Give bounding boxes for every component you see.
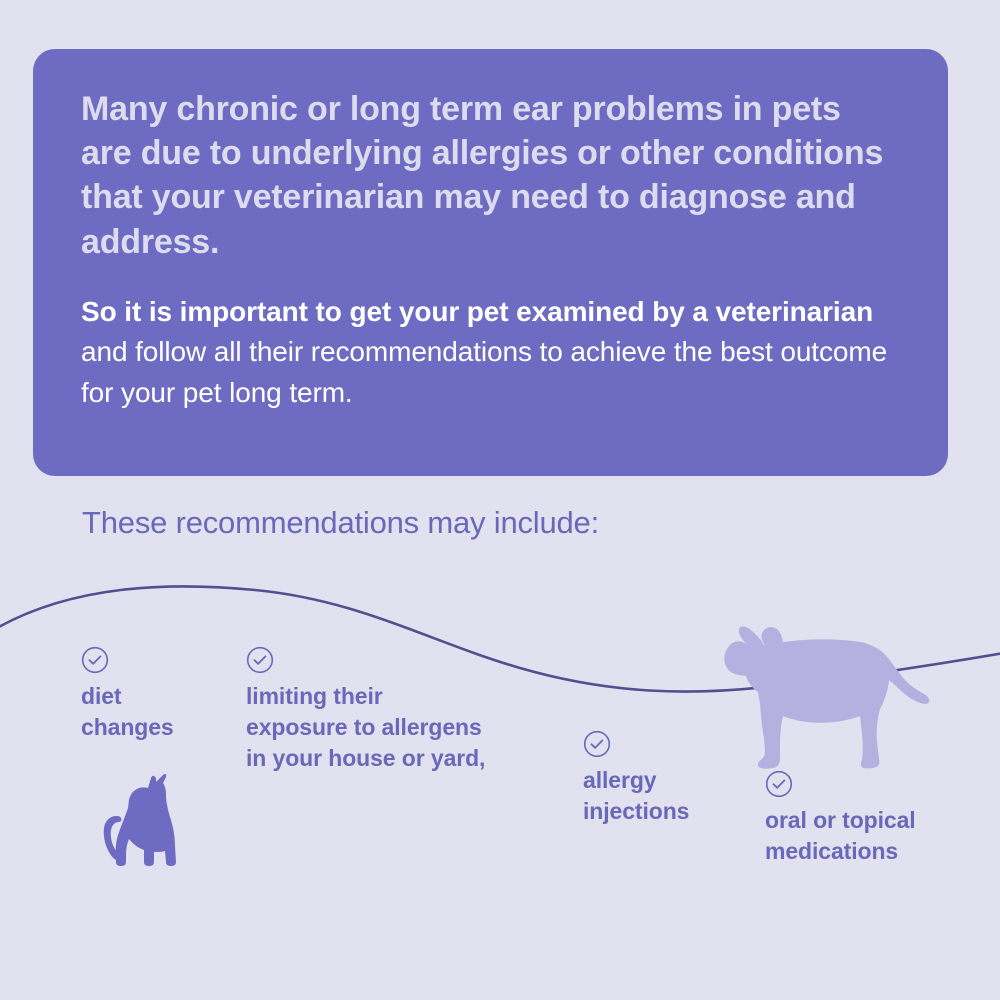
card-subtext: So it is important to get your pet exami… [81, 264, 900, 414]
check-circle-icon [583, 730, 611, 758]
check-circle-icon [81, 646, 109, 674]
card-subtext-emphasis: So it is important to get your pet exami… [81, 296, 873, 327]
recommendation-item-allergy-injections[interactable]: allergy injections [583, 730, 689, 827]
card-subtext-rest: and follow all their recommendations to … [81, 336, 887, 408]
check-circle-icon [246, 646, 274, 674]
dog-silhouette-icon [712, 604, 932, 776]
recommendation-label: oral or topical medications [765, 805, 916, 867]
card-headline: Many chronic or long term ear problems i… [81, 87, 900, 264]
cat-silhouette-icon [96, 772, 188, 868]
info-card: Many chronic or long term ear problems i… [33, 49, 948, 476]
check-circle-icon [765, 770, 793, 798]
recommendation-label: allergy injections [583, 765, 689, 827]
recommendation-label: diet changes [81, 681, 174, 743]
recommendation-label: limiting their exposure to allergens in … [246, 681, 485, 774]
recommendation-item-diet-changes[interactable]: diet changes [81, 646, 174, 743]
recommendation-item-limiting-exposure[interactable]: limiting their exposure to allergens in … [246, 646, 485, 774]
recommendation-item-oral-topical-medications[interactable]: oral or topical medications [765, 770, 916, 867]
recommendations-heading: These recommendations may include: [82, 505, 599, 541]
